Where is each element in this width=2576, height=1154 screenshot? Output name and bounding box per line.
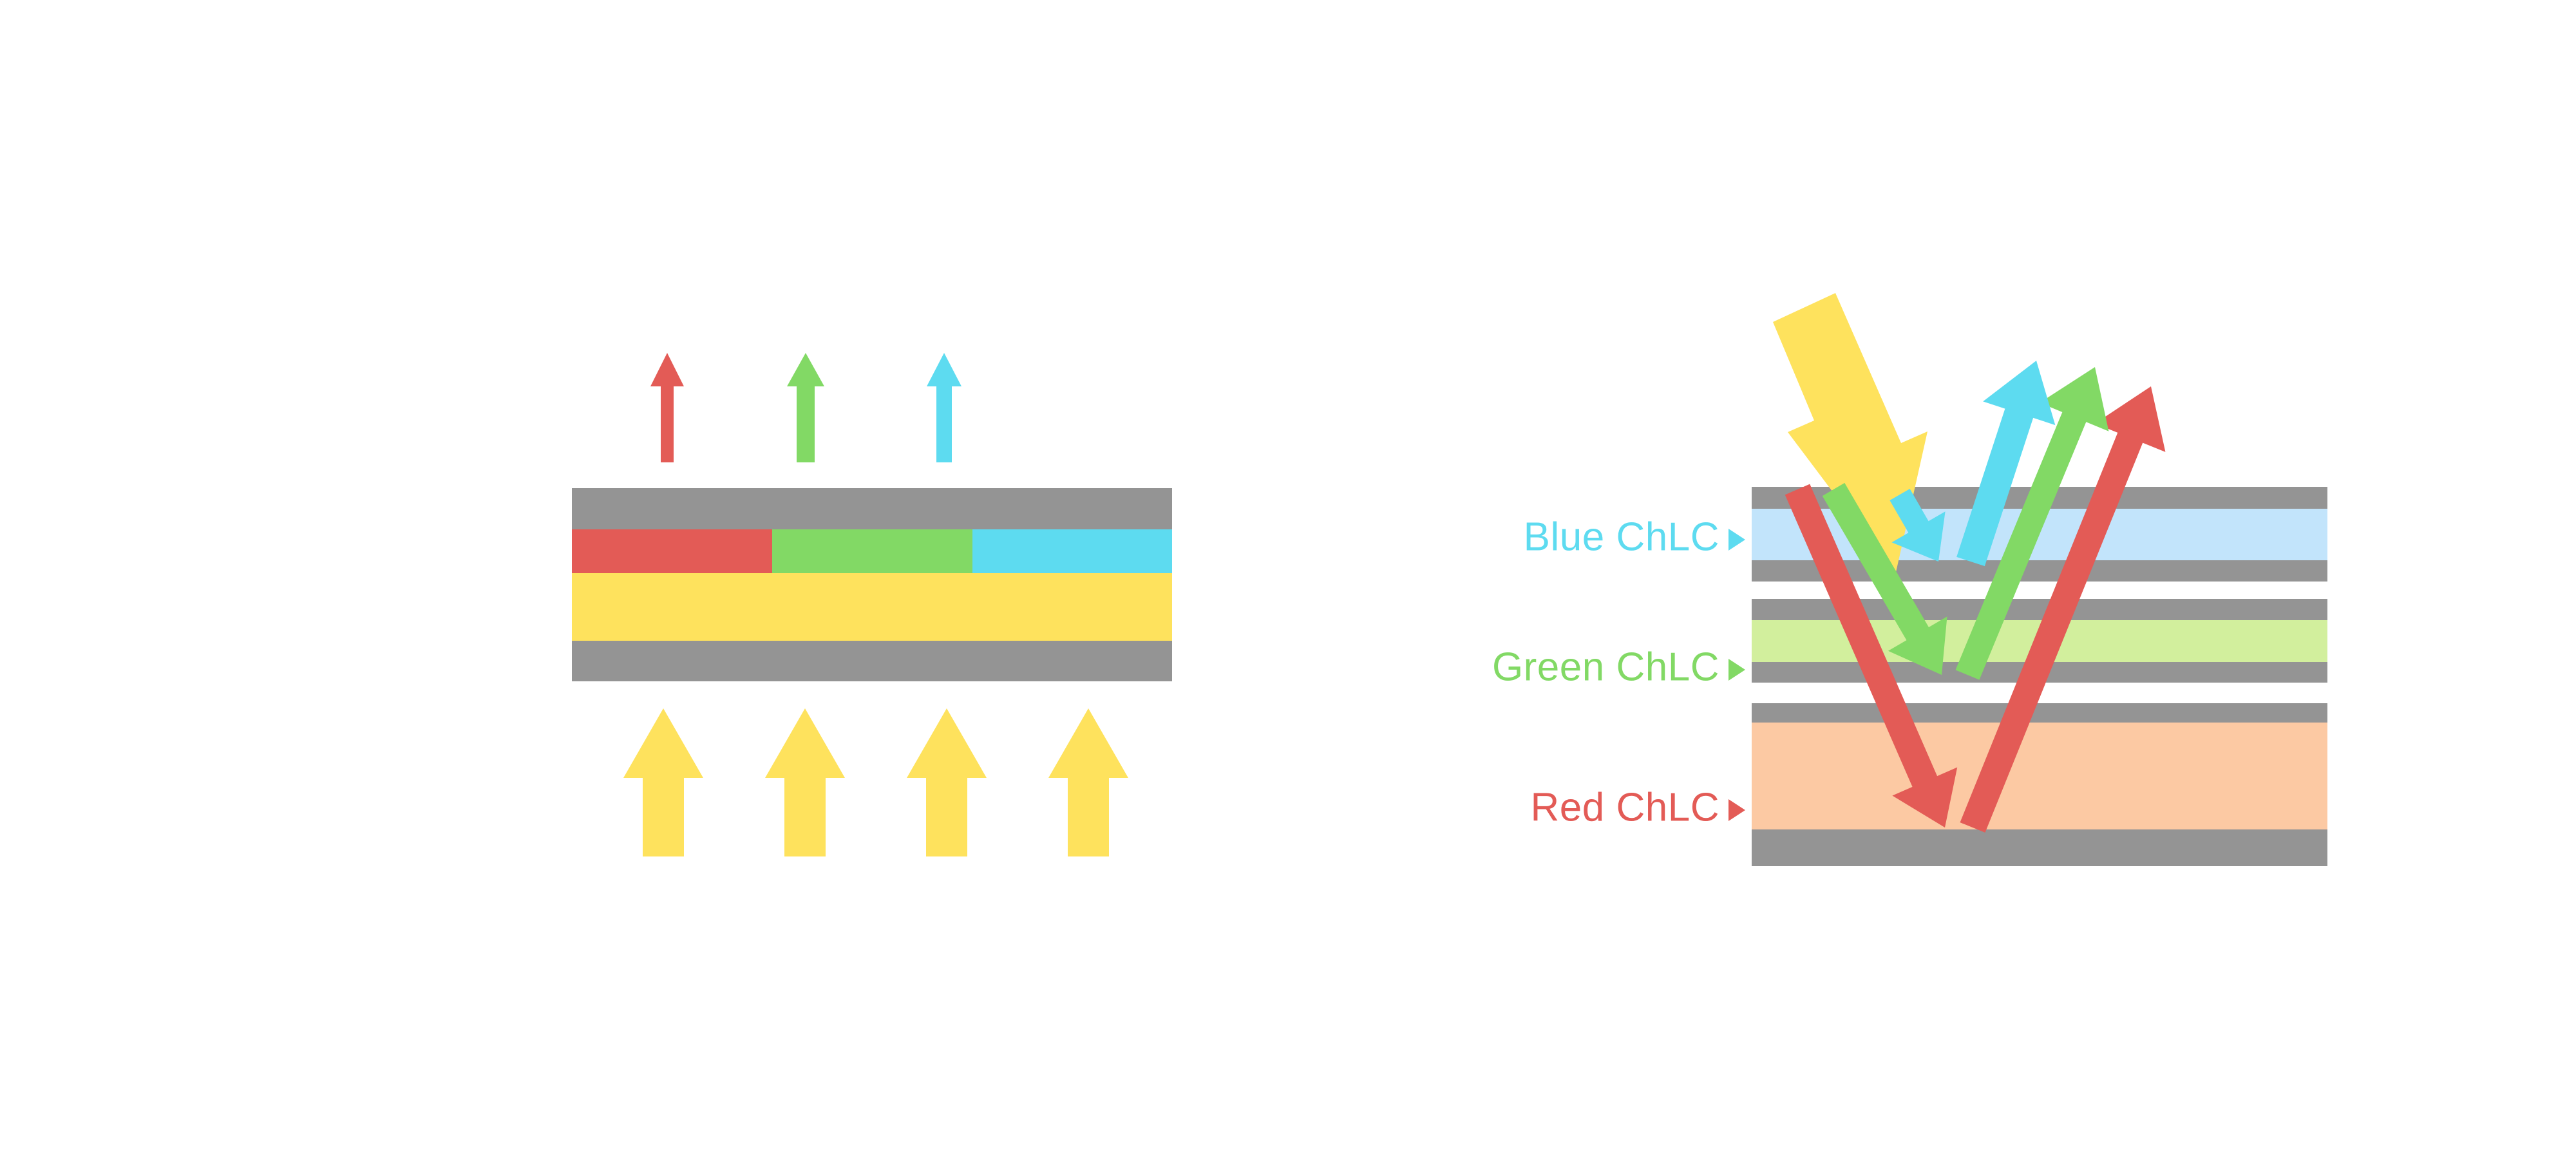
red-chlc-top-electrode <box>1752 703 2327 723</box>
green-subpixel-filter <box>772 529 972 573</box>
backlight-layer <box>572 573 1172 641</box>
green-chlc-label-text: Green ChLC <box>1492 645 1719 689</box>
blue-subpixel-filter <box>972 529 1172 573</box>
red-subpixel-filter <box>572 529 772 573</box>
green-chlc-label: Green ChLC <box>1492 645 1745 689</box>
red-chlc-label-text: Red ChLC <box>1531 785 1719 829</box>
bottom-electrode-layer <box>572 641 1172 681</box>
blue-chlc-label-text: Blue ChLC <box>1524 515 1719 559</box>
red-chlc-layer <box>1752 723 2327 829</box>
top-electrode-layer <box>572 488 1172 529</box>
red-chlc-bottom-electrode <box>1752 829 2327 866</box>
blue-chlc-label: Blue ChLC <box>1524 515 1745 559</box>
red-chlc-label: Red ChLC <box>1531 785 1745 829</box>
chlc-display-diagram: Blue ChLCGreen ChLCRed ChLC <box>0 0 2576 1154</box>
